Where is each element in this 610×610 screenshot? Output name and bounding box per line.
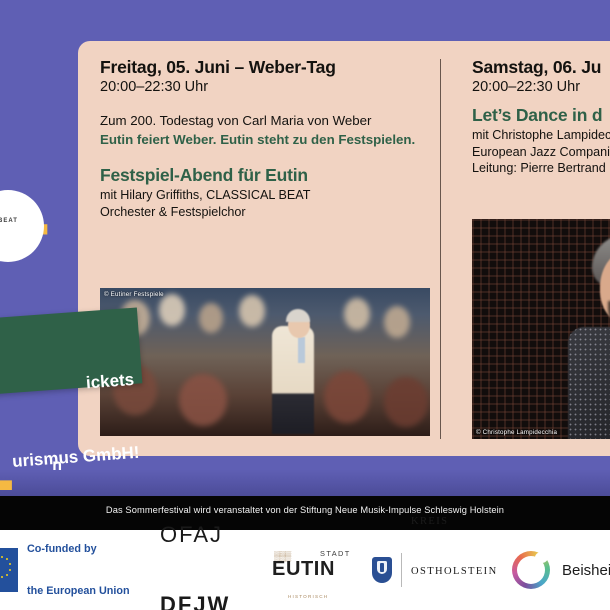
eutin-tagline-line-1: HISTORISCH [288,594,328,601]
photo-caption: © Eutiner Festspiele [104,291,164,298]
orchestra-photo-image [100,288,430,436]
program-title: Festspiel-Abend für Eutin [100,165,430,186]
accordionist-photo-image [472,219,610,439]
ofaj-line-1: OFAJ [160,522,223,547]
website-line-1: n [0,454,62,479]
orchestra-photo: © Eutiner Festspiele [100,288,430,436]
divider [401,553,402,587]
sponsor-kreis-ostholstein: KREIS OSTHOLSTEIN KULTURSTIFTUNGEN [372,530,498,610]
ofaj-line-2: DFJW [160,592,230,610]
festival-poster: R- L BEAT Freitag, 05. Juni – Weber-Tag … [0,0,610,610]
sponsor-eu: Co-funded by the European Union [0,530,130,610]
lead-text: Zum 200. Todestag von Carl Maria von Web… [100,113,430,128]
eutin-wordmark: EUTIN [272,558,335,581]
eu-label-line-1: Co-funded by [27,542,130,556]
logo-disc-label: BEAT [0,218,44,224]
eu-flag-icon [0,548,18,592]
program-card: Freitag, 05. Juni – Weber-Tag 20:00–22:3… [78,41,610,456]
eutin-stadt-label: STADT [320,549,351,558]
sponsor-beisheim: Beisheim [512,530,610,610]
sponsor-logo-bar: Co-funded by the European Union OFAJ DFJ… [0,530,610,610]
kreis-label-line-1: KREIS [411,515,498,528]
sponsor-stadt-eutin: ▒▒▒ STADT EUTIN HISTORISCH LEBENDIG. [272,530,358,610]
eu-label-line-2: the European Union [27,584,130,598]
shield-icon [372,557,392,583]
program-line-1: mit Christophe Lampidecc [472,127,610,144]
ofaj-wordmark: OFAJ DFJW [160,477,230,610]
eu-label: Co-funded by the European Union [27,513,130,610]
program-title: Let’s Dance in d [472,105,610,126]
program-line-2: European Jazz Companion [472,144,610,161]
accordionist-photo: © Christophe Lampidecchia [472,219,610,439]
program-line-2: Orchester & Festspielchor [100,204,430,221]
day-title: Samstag, 06. Ju [472,57,610,78]
kreis-label-line-2: OSTHOLSTEIN [411,565,498,578]
kreis-label: KREIS OSTHOLSTEIN KULTURSTIFTUNGEN [411,479,498,610]
photo-caption: © Christophe Lampidecchia [476,429,557,436]
eutin-tagline: HISTORISCH LEBENDIG. [288,580,328,610]
column-divider [440,59,441,439]
logo-disc [0,190,44,262]
day-title: Freitag, 05. Juni – Weber-Tag [100,57,430,78]
program-line-1: mit Hilary Griffiths, CLASSICAL BEAT [100,187,430,204]
beisheim-label: Beisheim [562,562,610,579]
classical-beat-logo-icon: BEAT [0,172,62,280]
program-line-3: Leitung: Pierre Bertrand [472,160,610,177]
day-time: 20:00–22:30 Uhr [472,79,610,95]
program-column-saturday: Samstag, 06. Ju 20:00–22:30 Uhr Let’s Da… [472,57,610,177]
lead-highlight: Eutin feiert Weber. Eutin steht zu den F… [100,132,430,147]
beisheim-ring-icon [512,551,550,589]
sponsor-ofaj: OFAJ DFJW [160,530,230,610]
ticket-banner: ickets urismus GmbH! [0,307,142,404]
program-column-friday: Freitag, 05. Juni – Weber-Tag 20:00–22:3… [100,57,430,220]
day-time: 20:00–22:30 Uhr [100,79,430,95]
